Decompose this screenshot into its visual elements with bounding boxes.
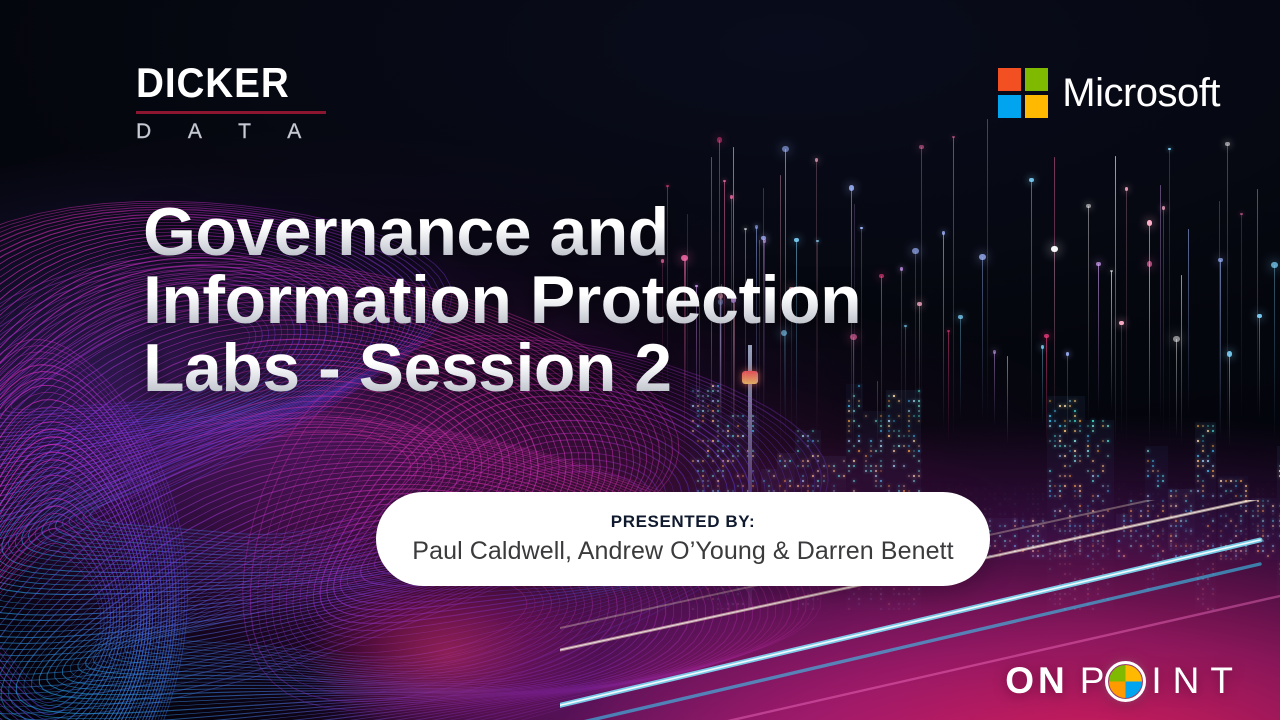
slide-title-line-1: Governance and: [143, 198, 1203, 266]
microsoft-square-yellow: [1025, 95, 1048, 118]
onpoint-p-text: P: [1080, 660, 1109, 702]
presented-by-label: PRESENTED BY:: [611, 512, 755, 532]
microsoft-square-blue: [998, 95, 1021, 118]
microsoft-wordmark: Microsoft: [1062, 71, 1220, 116]
dicker-data-logo: DICKER D A T A: [136, 62, 326, 143]
dicker-data-wordmark: DICKER: [136, 62, 311, 104]
onpoint-logo: ON P INT: [1005, 660, 1244, 702]
presenters-pill: PRESENTED BY: Paul Caldwell, Andrew O’Yo…: [376, 492, 990, 586]
onpoint-int-text: INT: [1151, 660, 1244, 702]
microsoft-square-red: [998, 68, 1021, 91]
onpoint-on-text: ON: [1005, 660, 1069, 702]
dicker-data-rule: [136, 111, 326, 114]
presentation-slide: DICKER D A T A Microsoft Governance and …: [0, 0, 1280, 720]
slide-title-line-3: Labs - Session 2: [143, 334, 1203, 402]
dicker-data-subword: D A T A: [136, 121, 326, 143]
slide-title: Governance and Information Protection La…: [143, 198, 1203, 402]
microsoft-logo: Microsoft: [998, 68, 1220, 118]
slide-title-line-2: Information Protection: [143, 266, 1203, 334]
microsoft-squares-icon: [998, 68, 1048, 118]
microsoft-square-green: [1025, 68, 1048, 91]
onpoint-color-wheel-icon: [1109, 665, 1142, 698]
presenter-names: Paul Caldwell, Andrew O’Young & Darren B…: [412, 537, 953, 566]
